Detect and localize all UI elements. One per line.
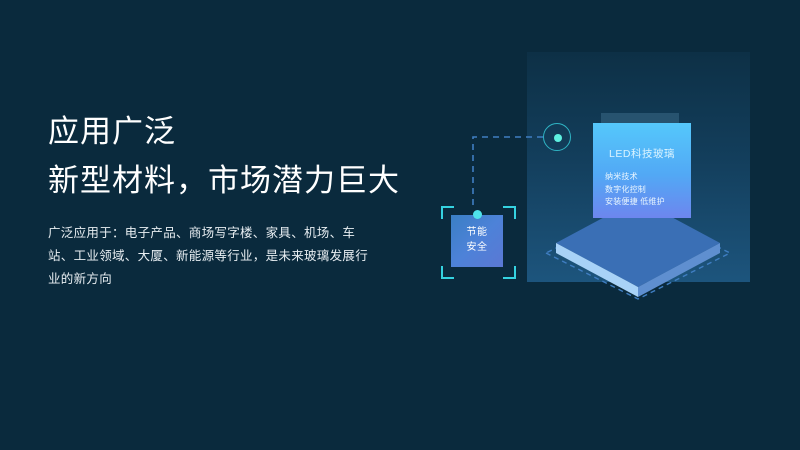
bracket-top-right — [503, 206, 516, 219]
callout-box: 节能 安全 — [451, 215, 503, 267]
led-glass-panel: LED科技玻璃 纳米技术 数字化控制 安装便捷 低维护 — [593, 123, 691, 218]
glass-panel-title: LED科技玻璃 — [593, 146, 691, 161]
page-title-line-2: 新型材料，市场潜力巨大 — [48, 162, 400, 200]
slide-canvas: LED科技玻璃 纳米技术 数字化控制 安装便捷 低维护 节能 安全 应用广泛 新… — [0, 0, 800, 450]
connector-path — [473, 137, 543, 210]
bracket-bottom-left — [441, 266, 454, 279]
body-paragraph: 广泛应用于：电子产品、商场写字楼、家具、机场、车站、工业领域、大厦、新能源等行业… — [48, 222, 378, 291]
page-title-line-1: 应用广泛 — [48, 113, 176, 151]
glass-panel-features: 纳米技术 数字化控制 安装便捷 低维护 — [605, 171, 665, 209]
callout-anchor-dot — [473, 210, 482, 219]
callout-line-1: 节能 — [451, 225, 503, 240]
callout-line-2: 安全 — [451, 240, 503, 255]
bracket-bottom-right — [503, 266, 516, 279]
